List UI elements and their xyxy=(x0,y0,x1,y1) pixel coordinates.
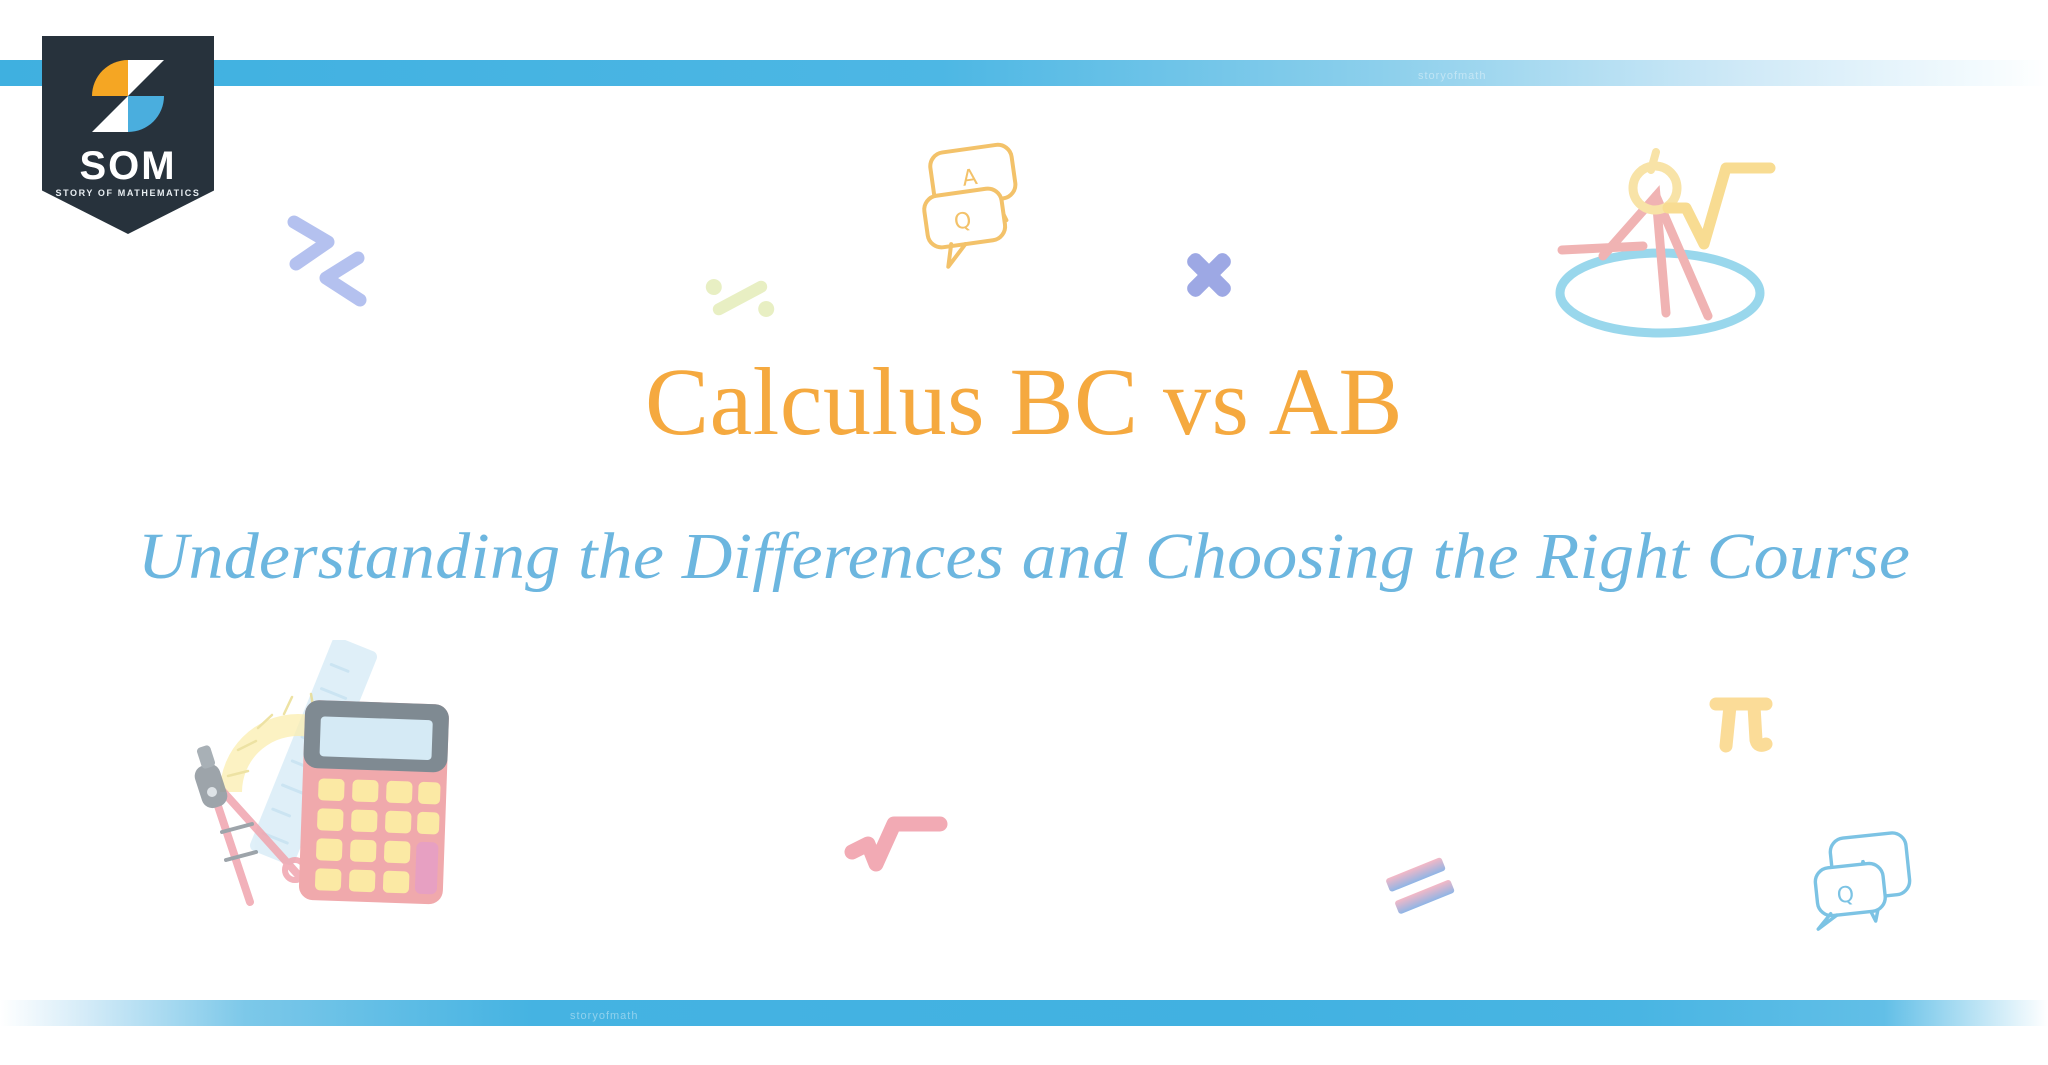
qa-speech-bubble-icon-blue: A Q xyxy=(1800,826,1930,946)
logo-s-mark-icon xyxy=(92,60,164,132)
bottom-bar-watermark: storyofmath xyxy=(570,1010,638,1022)
presentation-slide: storyofmath storyofmath SOM STORY OF MAT… xyxy=(0,0,2048,1065)
equals-sign-icon xyxy=(1382,850,1462,920)
logo-wordmark: SOM xyxy=(42,144,214,189)
multiply-x-icon xyxy=(1174,240,1244,310)
qa-speech-bubble-icon: A Q xyxy=(918,140,1038,270)
square-root-icon-yellow xyxy=(1660,150,1780,260)
svg-text:Q: Q xyxy=(1836,882,1856,909)
svg-text:Q: Q xyxy=(953,208,974,235)
pi-symbol-icon xyxy=(1702,684,1782,764)
top-bar-watermark: storyofmath xyxy=(1418,70,1486,82)
square-root-icon-pink xyxy=(842,798,952,878)
som-logo[interactable]: SOM STORY OF MATHEMATICS xyxy=(42,36,214,234)
page-subtitle: Understanding the Differences and Choosi… xyxy=(0,521,2048,594)
bottom-accent-bar xyxy=(0,1000,2048,1026)
calculator-tools-icon xyxy=(168,640,468,930)
logo-tagline: STORY OF MATHEMATICS xyxy=(42,188,214,198)
greater-less-than-icon xyxy=(286,212,376,312)
page-title: Calculus BC vs AB xyxy=(0,352,2048,453)
division-sign-icon xyxy=(700,258,780,338)
top-accent-bar xyxy=(0,60,2048,86)
svg-text:A: A xyxy=(961,165,979,192)
